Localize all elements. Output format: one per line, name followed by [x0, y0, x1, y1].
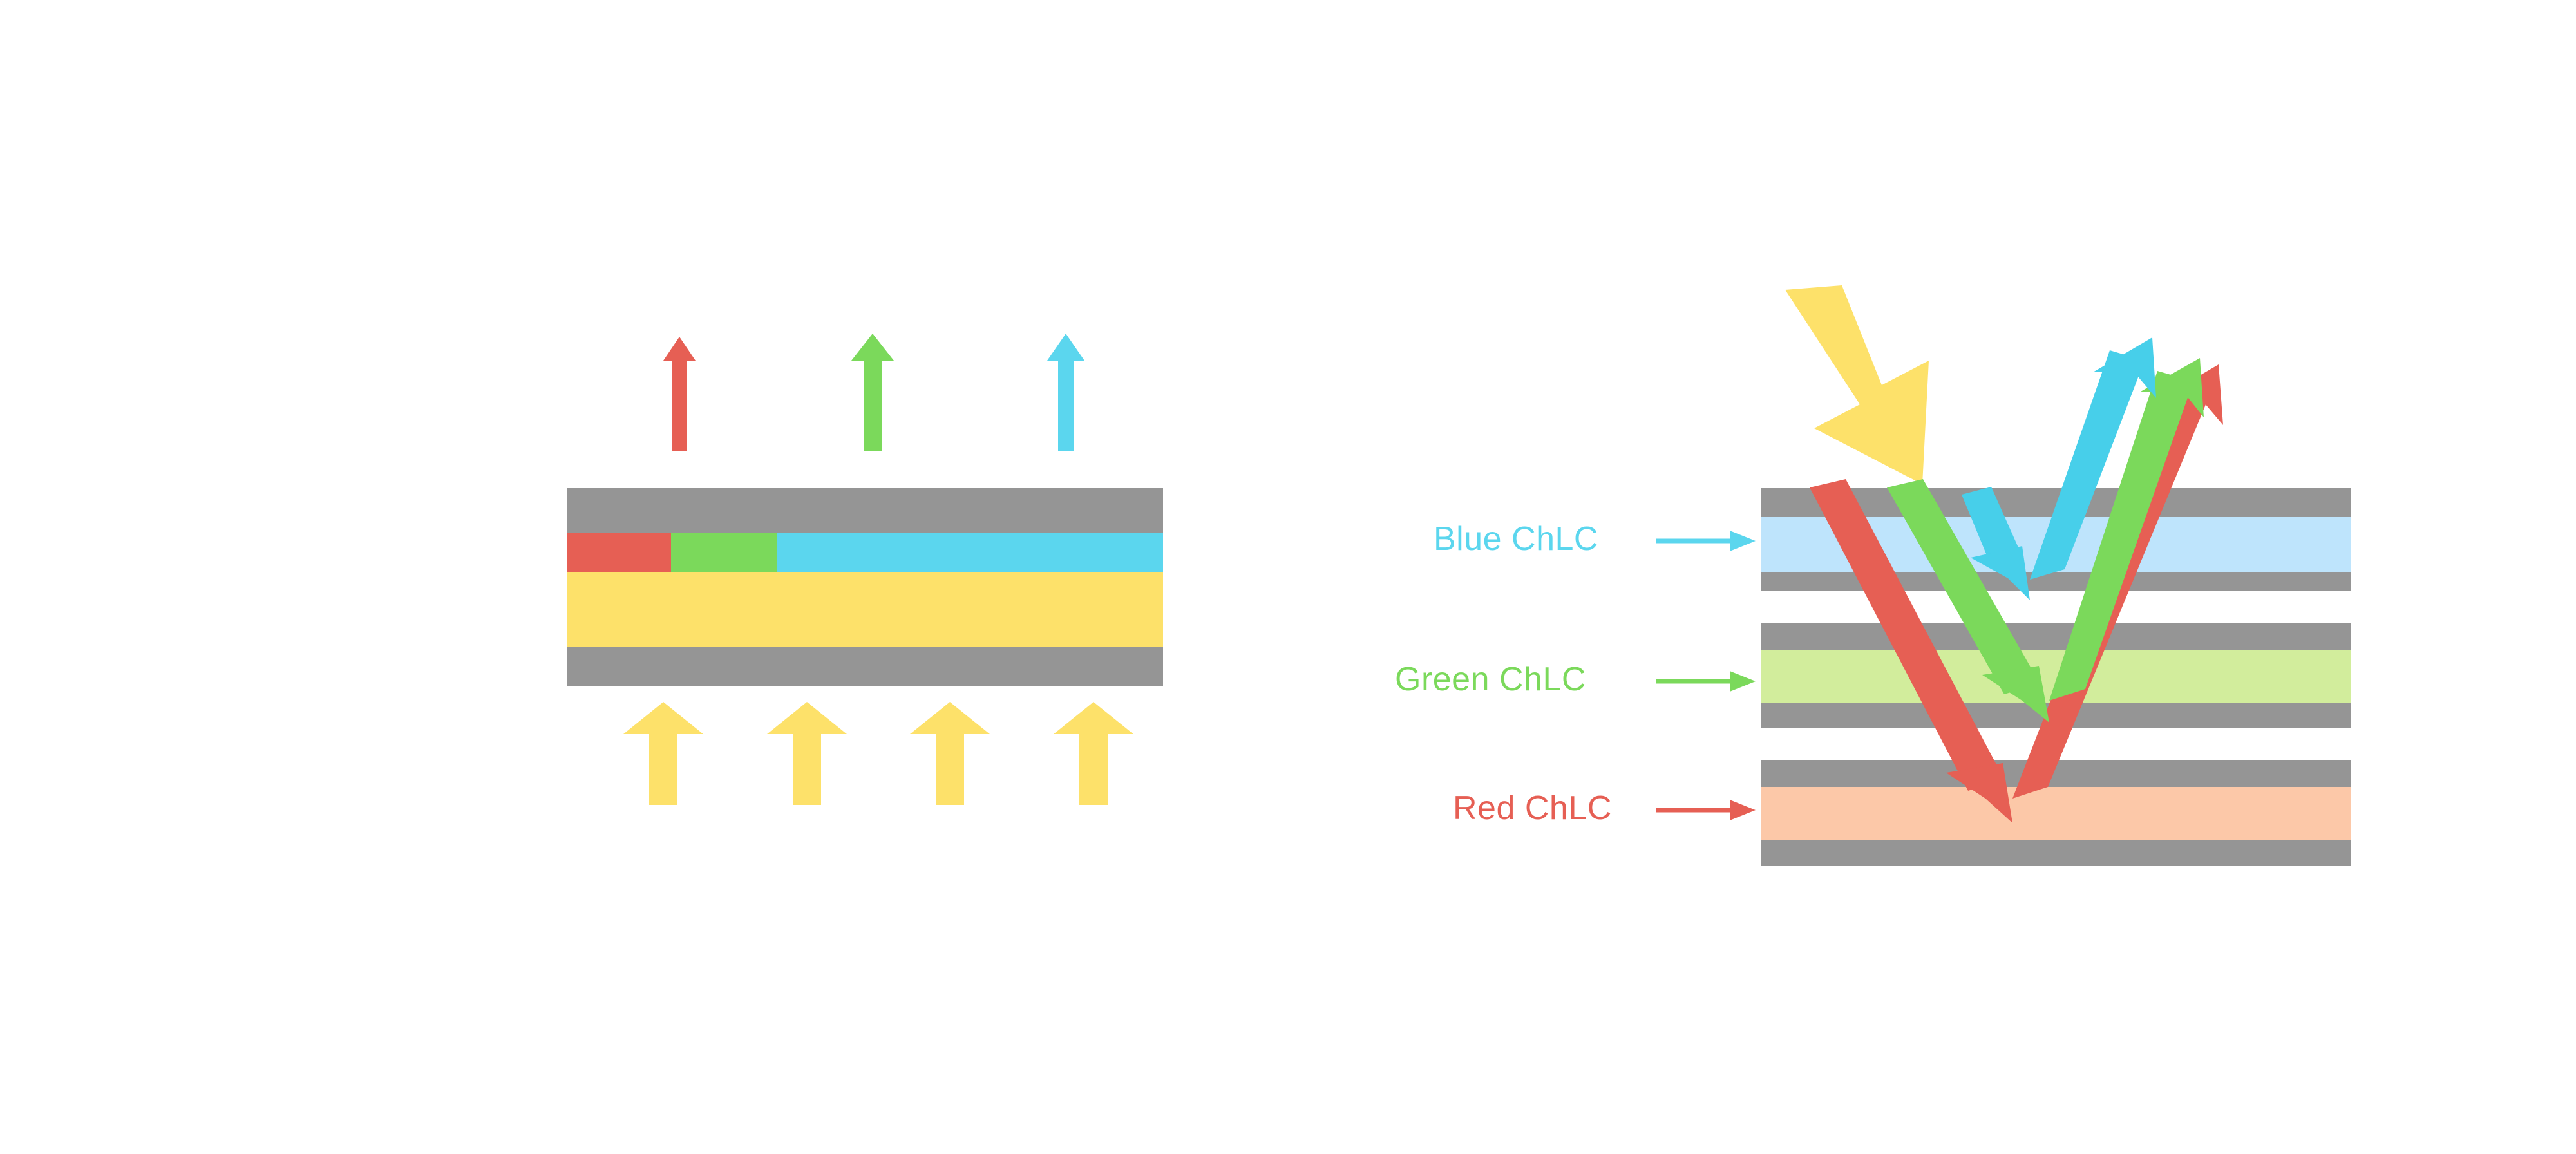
blue-ray [1962, 337, 2156, 600]
red-ray [1810, 364, 2223, 823]
green-cell-top-electrode [1761, 623, 2351, 650]
green-chlc-layer [1761, 650, 2351, 703]
ambient-light-arrow [1785, 285, 1929, 484]
green-chlc-label: Green ChLC [1395, 663, 1586, 696]
blue-cell-top-electrode [1761, 488, 2351, 517]
blue-label-pointer-arrow [1656, 531, 1756, 551]
red-cell-bottom-electrode [1761, 840, 2351, 866]
blue-chlc-label: Blue ChLC [1434, 522, 1598, 556]
reflective-stack-panel: Blue ChLC Green ChLC Red ChLC [0, 0, 2576, 1154]
red-label-pointer-arrow [1656, 800, 1756, 820]
red-cell-top-electrode [1761, 760, 2351, 787]
blue-chlc-layer [1761, 517, 2351, 572]
diagram-canvas: Blue ChLC Green ChLC Red ChLC [0, 0, 2576, 1154]
green-ray [1887, 358, 2204, 723]
green-label-pointer-arrow [1656, 671, 1756, 692]
red-chlc-layer [1761, 787, 2351, 840]
red-chlc-label: Red ChLC [1453, 791, 1612, 825]
green-cell-bottom-electrode [1761, 703, 2351, 728]
blue-cell-bottom-electrode [1761, 572, 2351, 591]
